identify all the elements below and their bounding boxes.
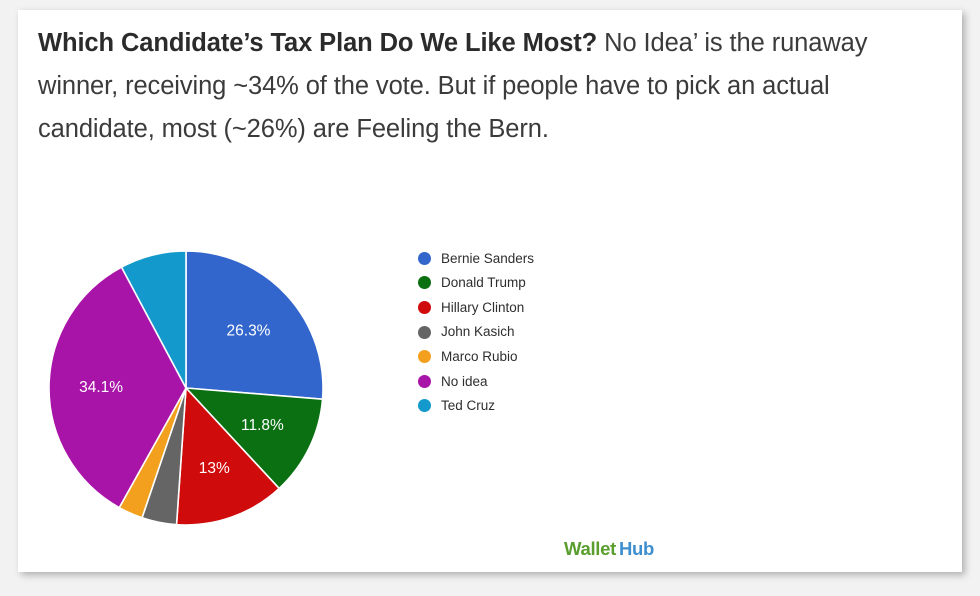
legend-item[interactable]: Donald Trump (416, 271, 676, 296)
content-card: Which Candidate’s Tax Plan Do We Like Mo… (18, 10, 962, 572)
logo-wallet-text: Wallet (564, 538, 616, 559)
legend-item-label: Bernie Sanders (441, 252, 534, 266)
pie-slice-label: 11.8% (241, 417, 284, 434)
legend-item-label: Hillary Clinton (441, 301, 524, 315)
legend-swatch-icon (418, 276, 431, 289)
legend-item-label: Ted Cruz (441, 399, 495, 413)
legend-item-label: Marco Rubio (441, 350, 518, 364)
pie-slice-label: 34.1% (79, 379, 123, 396)
legend-item[interactable]: John Kasich (416, 320, 676, 345)
pie-chart: 26.3%11.8%13%34.1% Bernie SandersDonald … (18, 10, 962, 572)
legend-item[interactable]: Marco Rubio (416, 344, 676, 369)
legend-swatch-icon (418, 375, 431, 388)
legend-item-label: Donald Trump (441, 276, 526, 290)
logo-hub-text: Hub (619, 538, 654, 559)
legend-swatch-icon (418, 252, 431, 265)
pie-slice-label: 13% (199, 460, 230, 477)
legend-item-label: John Kasich (441, 325, 515, 339)
wallethub-logo: WalletHub (564, 538, 654, 560)
legend-swatch-icon (418, 399, 431, 412)
chart-legend: Bernie SandersDonald TrumpHillary Clinto… (416, 246, 676, 418)
legend-item[interactable]: Bernie Sanders (416, 246, 676, 271)
legend-swatch-icon (418, 301, 431, 314)
legend-item[interactable]: Hillary Clinton (416, 295, 676, 320)
legend-item-label: No idea (441, 375, 488, 389)
legend-item[interactable]: Ted Cruz (416, 394, 676, 419)
pie-graphic: 26.3%11.8%13%34.1% (31, 240, 331, 540)
pie-svg: 26.3%11.8%13%34.1% (31, 240, 331, 540)
legend-item[interactable]: No idea (416, 369, 676, 394)
pie-slice-label: 26.3% (227, 322, 271, 339)
legend-swatch-icon (418, 350, 431, 363)
legend-swatch-icon (418, 326, 431, 339)
